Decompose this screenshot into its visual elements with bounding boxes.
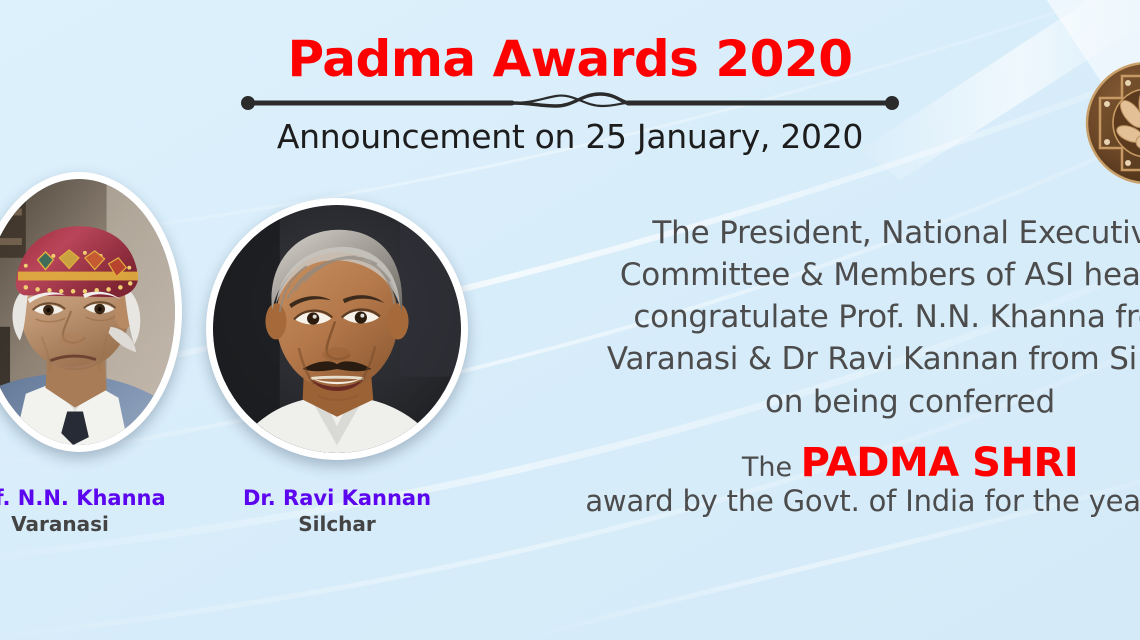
award-prefix: The [742, 452, 801, 483]
ornamental-divider-icon [240, 90, 900, 116]
caption-khanna: Prof. N.N. Khanna Varanasi [0, 486, 180, 536]
avatar-kannan [206, 198, 468, 460]
portrait-photo-kannan [213, 205, 461, 453]
award-headline: The PADMA SHRI [560, 440, 1140, 486]
honouree-name-kannan: Dr. Ravi Kannan [212, 486, 462, 510]
honouree-name-khanna: Prof. N.N. Khanna [0, 486, 180, 510]
page-title: Padma Awards 2020 [0, 34, 1140, 84]
padma-award-medal-icon [1082, 58, 1140, 188]
congratulations-message: The President, National Executive Commit… [560, 212, 1140, 423]
award-subline: award by the Govt. of India for the year… [560, 484, 1140, 518]
announcement-subtitle: Announcement on 25 January, 2020 [0, 120, 1140, 153]
avatar-khanna [0, 172, 182, 452]
padma-awards-poster: Padma Awards 2020 Announcement on 25 Jan… [0, 0, 1140, 640]
caption-kannan: Dr. Ravi Kannan Silchar [212, 486, 462, 536]
portrait-photo-khanna [0, 179, 175, 445]
honouree-place-khanna: Varanasi [0, 512, 180, 536]
honouree-place-kannan: Silchar [212, 512, 462, 536]
award-name: PADMA SHRI [801, 440, 1078, 486]
poster-header: Padma Awards 2020 Announcement on 25 Jan… [0, 34, 1140, 153]
